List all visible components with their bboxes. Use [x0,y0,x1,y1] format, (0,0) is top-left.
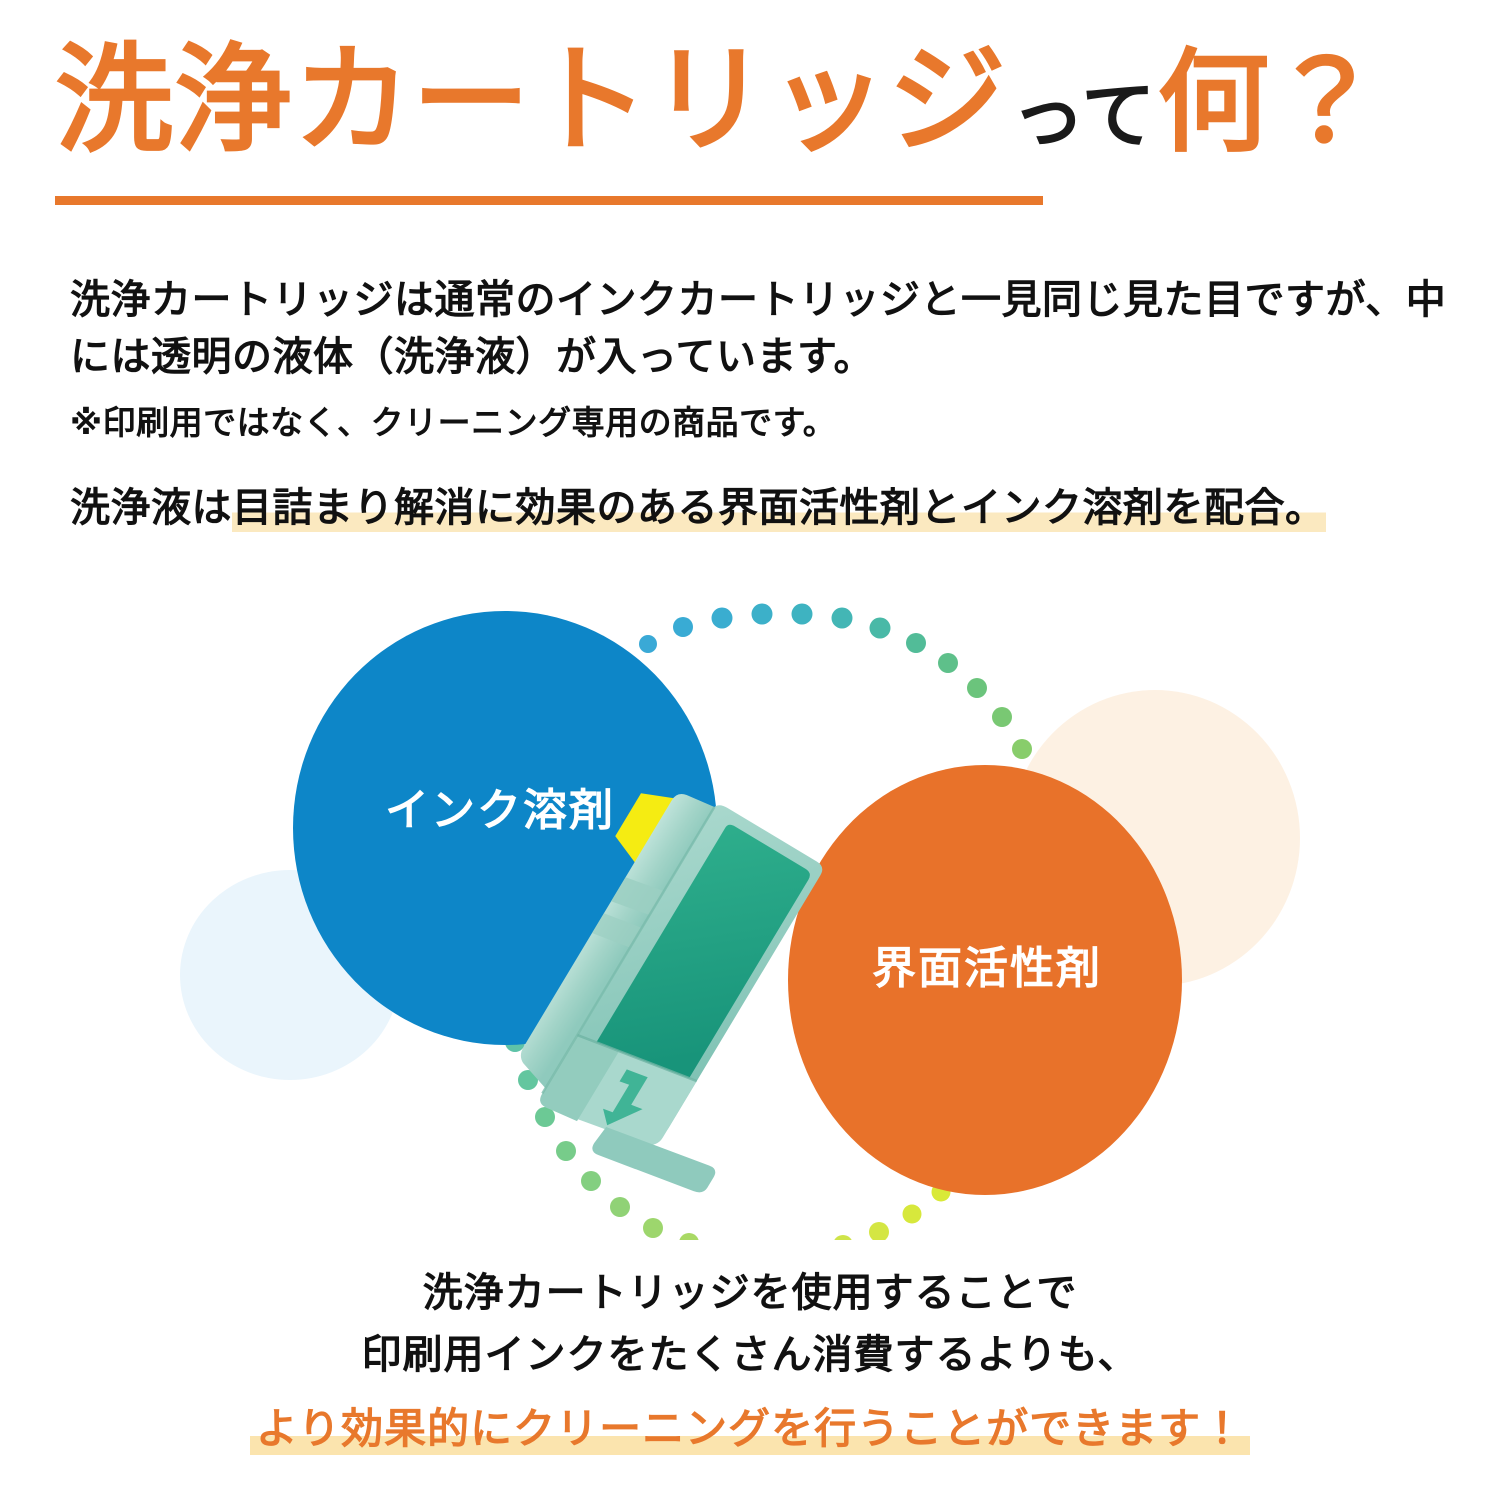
conclusion-line-1: 洗浄カートリッジを使用することで [0,1262,1500,1324]
highlight-statement: 洗浄液は目詰まり解消に効果のある界面活性剤とインク溶剤を配合。 [70,475,1326,533]
highlight-statement-marked: 目詰まり解消に効果のある界面活性剤とインク溶剤を配合。 [232,486,1326,532]
concept-diagram-svg [0,580,1500,1240]
conclusion-line-2: 印刷用インクをたくさん消費するよりも、 [0,1324,1500,1386]
ink-solvent-label: インク溶剤 [385,774,615,838]
conclusion-line-3: より効果的にクリーニングを行うことができます！ [0,1396,1500,1461]
page-title-question: 何？ [1157,47,1381,159]
page-title: 洗浄カートリッジ って 何？ [55,42,1455,182]
infographic-page: 洗浄カートリッジ って 何？ 洗浄カートリッジは通常のインクカートリッジと一見同… [0,0,1500,1500]
page-title-particle: って [1011,79,1155,153]
intro-note-text: ※印刷用ではなく、クリーニング専用の商品です。 [70,400,1450,446]
concept-diagram: インク溶剤 界面活性剤 [0,580,1500,1240]
title-underline-bar [55,196,1043,205]
page-title-main: 洗浄カートリッジ [55,42,1007,160]
surfactant-label: 界面活性剤 [872,932,1102,996]
highlight-statement-prefix: 洗浄液は [70,486,232,530]
conclusion-block: 洗浄カートリッジを使用することで 印刷用インクをたくさん消費するよりも、 より効… [0,1262,1500,1461]
conclusion-line-3-marked: より効果的にクリーニングを行うことができます！ [250,1405,1250,1455]
intro-lead-text: 洗浄カートリッジは通常のインクカートリッジと一見同じ見た目ですが、中には透明の液… [70,272,1450,386]
intro-paragraph-block: 洗浄カートリッジは通常のインクカートリッジと一見同じ見た目ですが、中には透明の液… [70,272,1450,446]
